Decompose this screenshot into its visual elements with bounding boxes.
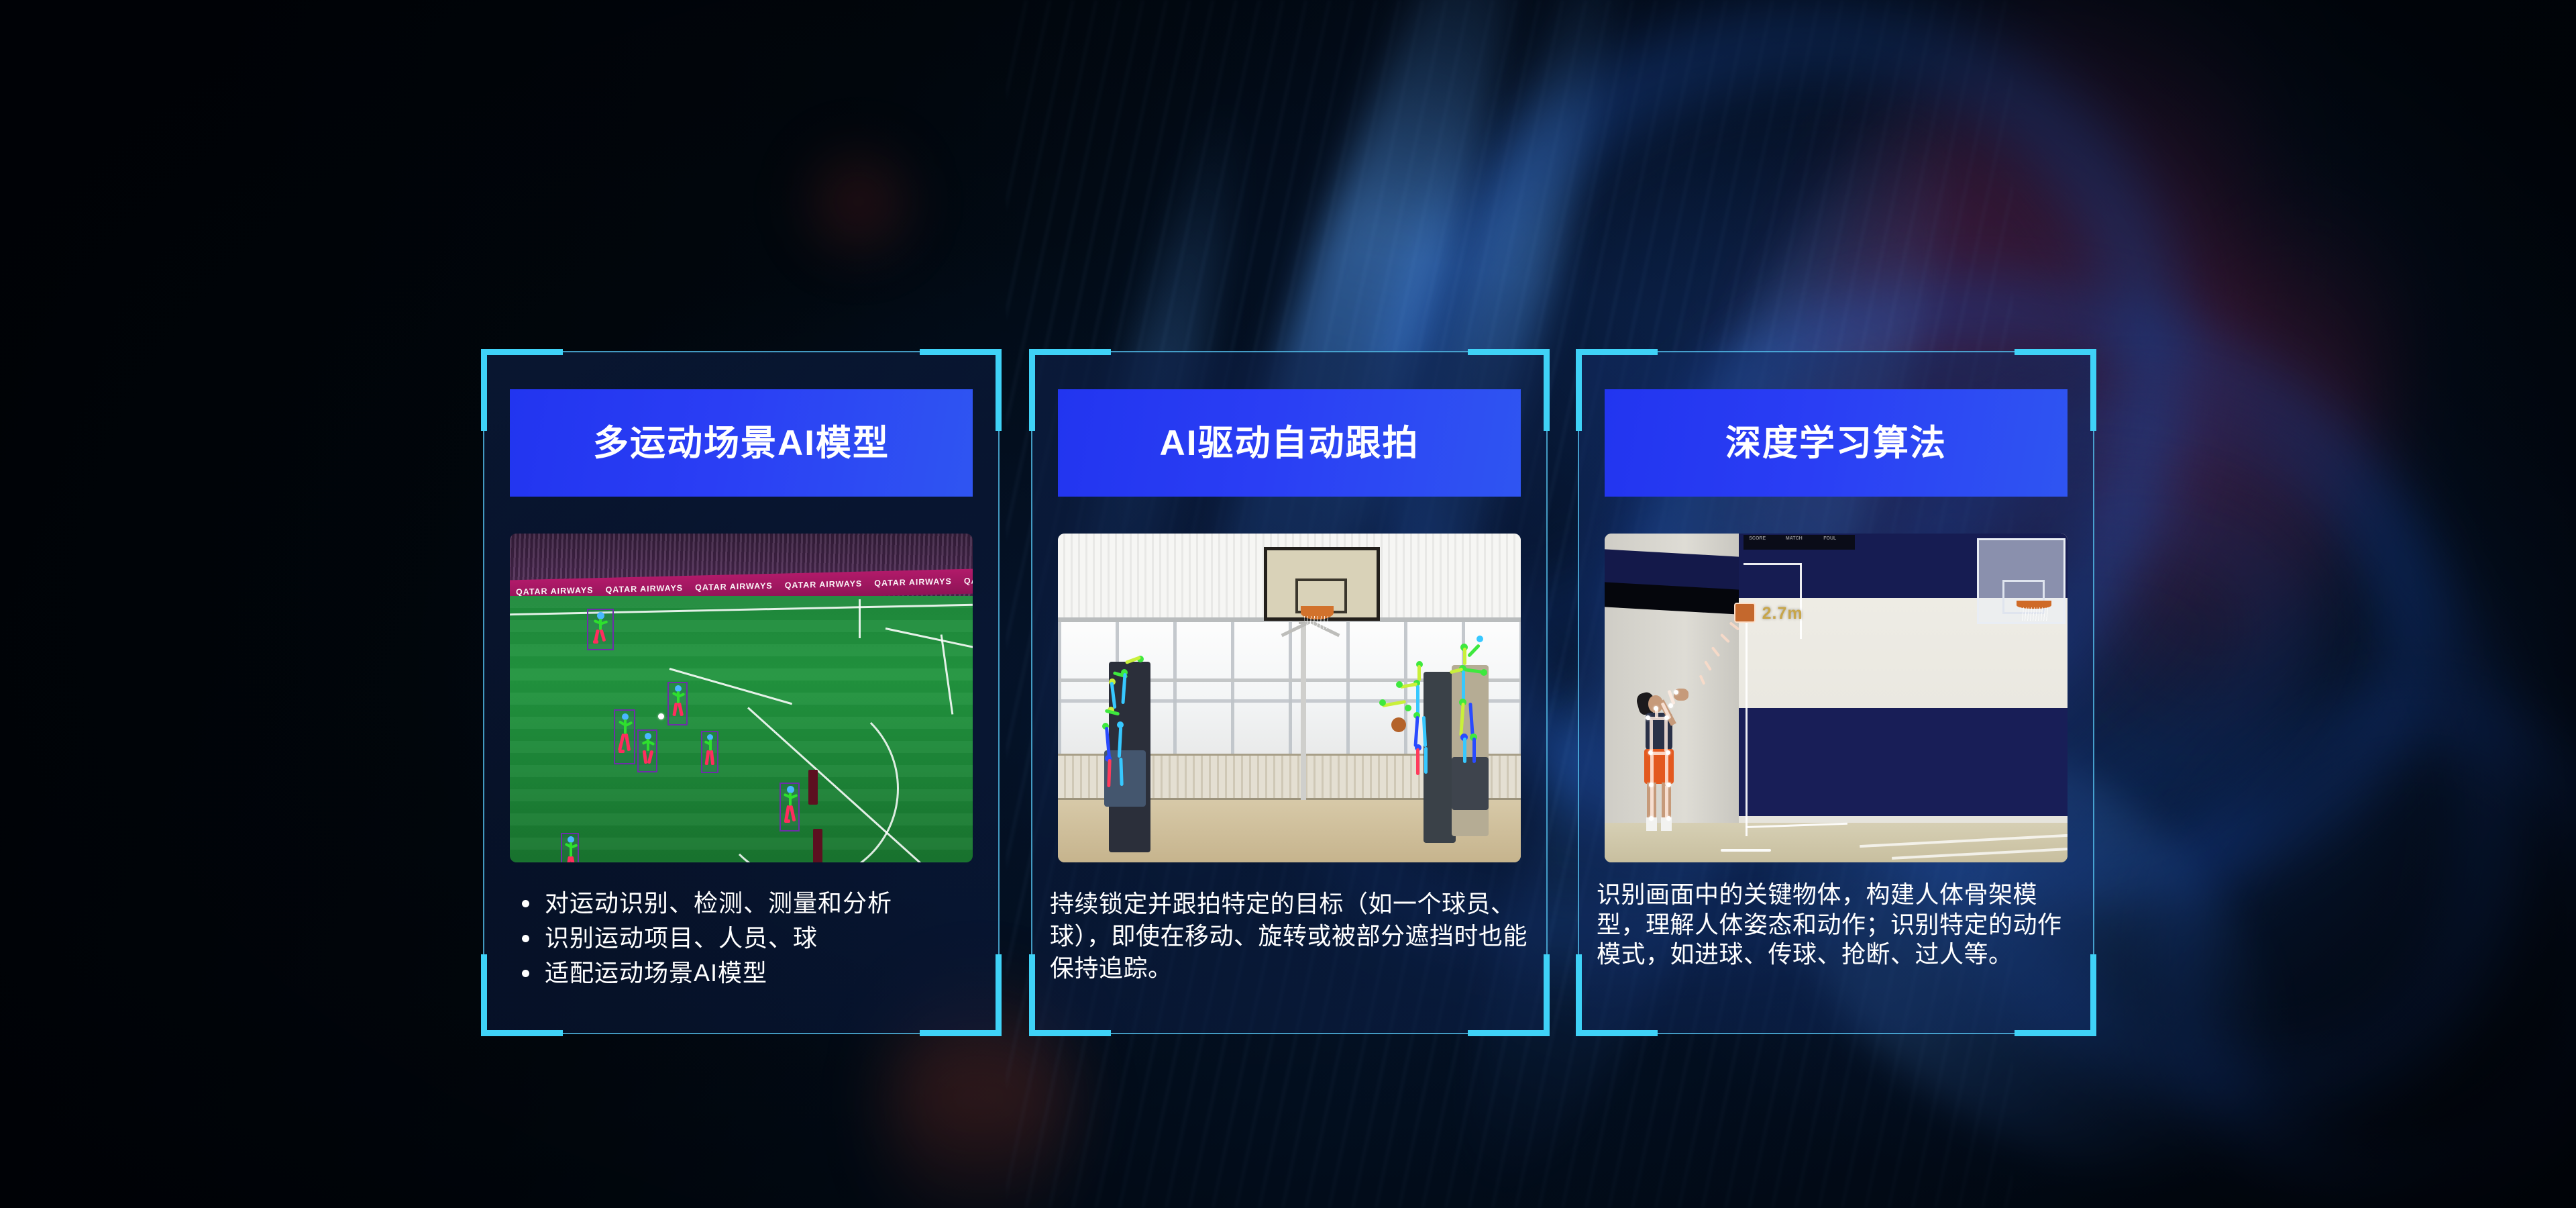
feature-card-ai-auto-tracking[interactable]: AI驱动自动跟拍	[1031, 351, 1548, 1034]
bullet-item: 对运动识别、检测、测量和分析	[510, 888, 979, 919]
card-description: 识别画面中的关键物体，构建人体骨架模型，理解人体姿态和动作；识别特定的动作模式，…	[1597, 880, 2078, 970]
opponent-player	[808, 770, 818, 805]
court-shot-measurement-thumbnail[interactable]: SCORE MATCH FOUL 2.7m	[1605, 534, 2068, 862]
bone-spine-right	[1664, 719, 1668, 752]
banner-text: QATAR AIRWAYS	[958, 574, 973, 586]
card-body-text: 识别画面中的关键物体，构建人体骨架模型，理解人体姿态和动作；识别特定的动作模式，…	[1597, 880, 2078, 970]
shooting-player	[1632, 685, 1711, 862]
keypoint-elbow	[1668, 703, 1673, 708]
bullet-item: 识别运动项目、人员、球	[510, 923, 979, 954]
bone-shin-left	[1650, 785, 1654, 819]
feature-bullet-list: 对运动识别、检测、测量和分析 识别运动项目、人员、球 适配运动场景AI模型	[510, 888, 979, 989]
scoreboard-label-score: SCORE	[1749, 536, 1766, 541]
player-skeleton	[641, 733, 654, 770]
soccer-ball	[658, 713, 664, 719]
measure-line-vertical-right	[1800, 563, 1802, 639]
card-body-text: 持续锁定并跟拍特定的目标（如一个球员、球），即使在移动、旋转或被部分遮挡时也能保…	[1050, 888, 1532, 985]
feature-card-row: 多运动场景AI模型 QATAR AIRWAYS QATAR AIRWAYS QA…	[0, 0, 2576, 1208]
gym-center-post	[1301, 619, 1306, 800]
scoreboard: SCORE MATCH FOUL	[1743, 535, 1855, 550]
ball-detection-box	[1734, 603, 1756, 623]
player-skeleton	[784, 786, 797, 828]
player-skeleton	[592, 612, 609, 647]
card-body-text: 对运动识别、检测、测量和分析 识别运动项目、人员、球 适配运动场景AI模型	[510, 888, 979, 993]
measure-line-horizontal	[1743, 563, 1801, 565]
basketball-court-scene: SCORE MATCH FOUL 2.7m	[1605, 534, 2068, 862]
card-title-bar: 多运动场景AI模型	[510, 389, 973, 497]
card-title-bar: 深度学习算法	[1605, 389, 2068, 497]
opponent-player	[813, 829, 822, 862]
bone-spine-left	[1650, 719, 1653, 752]
measurement-label: 2.7m	[1762, 604, 1803, 623]
banner-text: QATAR AIRWAYS	[600, 584, 690, 595]
player-skeleton	[565, 836, 577, 862]
banner-text: QATAR AIRWAYS	[779, 579, 869, 591]
card-title-bar: AI驱动自动跟拍	[1058, 389, 1521, 497]
scoreboard-label-match: MATCH	[1786, 536, 1803, 541]
card-title-text: 深度学习算法	[1725, 425, 1947, 461]
soccer-scene: QATAR AIRWAYS QATAR AIRWAYS QATAR AIRWAY…	[510, 534, 973, 862]
player-skeleton	[672, 685, 685, 723]
player-skeleton-right-2	[1447, 642, 1521, 846]
pitch-line-goal-vertical	[859, 599, 861, 638]
measure-floor-marker	[1721, 849, 1772, 852]
card-description: 持续锁定并跟拍特定的目标（如一个球员、球），即使在移动、旋转或被部分遮挡时也能保…	[1050, 888, 1532, 985]
bullet-item: 适配运动场景AI模型	[510, 958, 979, 989]
bone-thigh-right	[1665, 754, 1668, 785]
basketball-net	[2021, 607, 2048, 621]
player-skeleton-right-3	[1382, 698, 1438, 770]
gym-basketball-skeleton-thumbnail[interactable]	[1058, 534, 1521, 862]
soccer-pose-detection-thumbnail[interactable]: QATAR AIRWAYS QATAR AIRWAYS QATAR AIRWAY…	[510, 534, 973, 862]
basketball-net	[1304, 616, 1330, 630]
card-title-text: 多运动场景AI模型	[593, 425, 890, 461]
feature-card-deep-learning-algorithm[interactable]: 深度学习算法 SCORE MATCH FOUL	[1578, 351, 2094, 1034]
card-title-text: AI驱动自动跟拍	[1160, 425, 1419, 461]
player-skeleton	[619, 713, 632, 762]
feature-card-multi-sport-ai-model[interactable]: 多运动场景AI模型 QATAR AIRWAYS QATAR AIRWAYS QA…	[483, 351, 1000, 1034]
bone-shin-right	[1665, 785, 1668, 819]
bone-thigh-left	[1650, 754, 1654, 785]
gym-scene	[1058, 534, 1521, 862]
player-skeleton	[704, 734, 716, 770]
court-navy-band-bottom	[1739, 708, 2068, 817]
banner-text: QATAR AIRWAYS	[868, 577, 958, 589]
banner-text: QATAR AIRWAYS	[689, 581, 779, 593]
scoreboard-label-foul: FOUL	[1823, 536, 1836, 541]
player-skeleton-left	[1099, 652, 1183, 856]
